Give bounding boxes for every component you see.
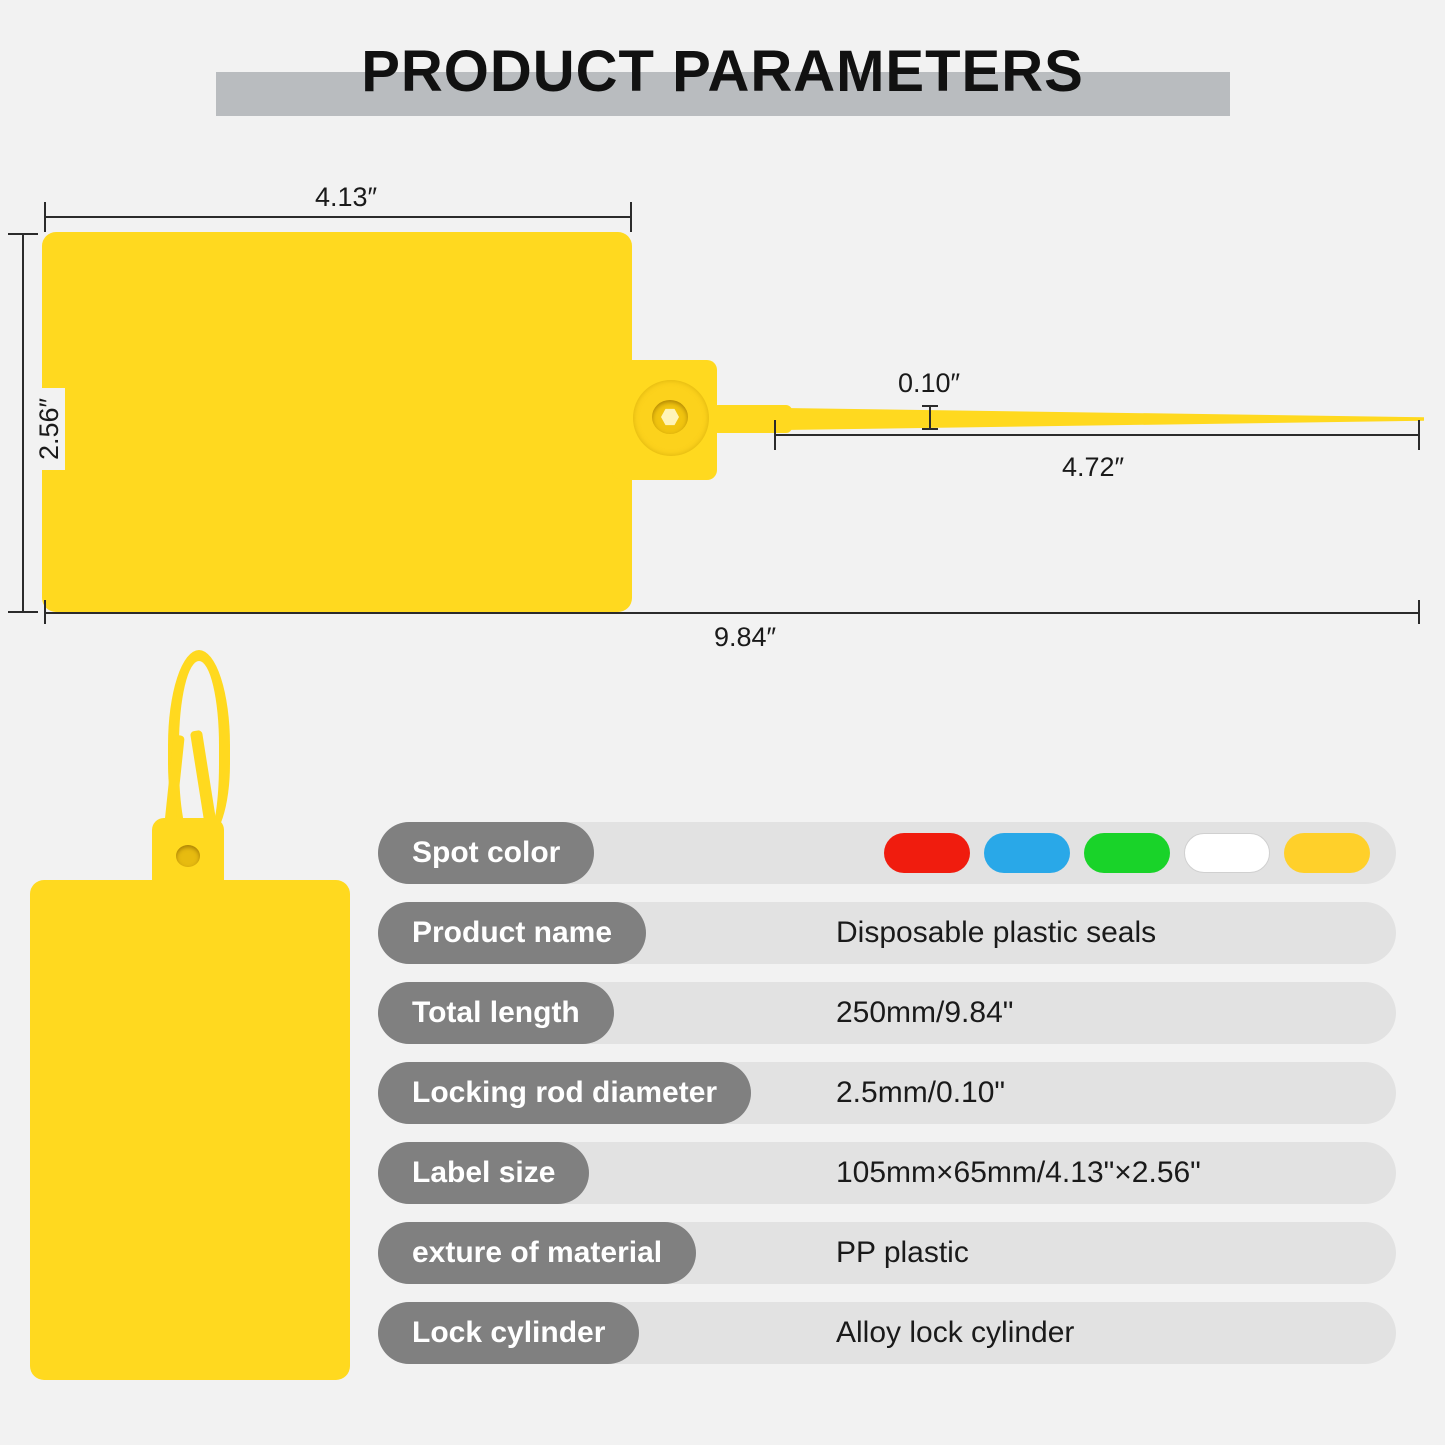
swatch-blue[interactable] xyxy=(984,833,1070,873)
table-row: Locking rod diameter 2.5mm/0.10" xyxy=(378,1062,1396,1124)
seal-strap-base xyxy=(712,405,792,433)
spec-key-label-size: Label size xyxy=(378,1142,589,1204)
spec-value-lock-cylinder: Alloy lock cylinder xyxy=(836,1302,1074,1364)
seal-label-plate xyxy=(42,232,632,612)
seal-strap-taper xyxy=(784,408,1424,430)
spec-key-product-name: Product name xyxy=(378,902,646,964)
dim-width-line xyxy=(44,216,632,218)
spec-key-spot-color: Spot color xyxy=(378,822,594,884)
spec-value-total-length: 250mm/9.84" xyxy=(836,982,1013,1044)
dim-height-label: 2.56″ xyxy=(34,388,65,470)
specification-table: Spot color Product name Disposable plast… xyxy=(378,822,1396,1382)
table-row: Total length 250mm/9.84" xyxy=(378,982,1396,1044)
dim-rod-diameter-label: 0.10″ xyxy=(898,368,960,399)
dim-rod-line xyxy=(929,405,931,429)
swatch-green[interactable] xyxy=(1084,833,1170,873)
swatch-red[interactable] xyxy=(884,833,970,873)
table-row: Label size 105mm×65mm/4.13"×2.56" xyxy=(378,1142,1396,1204)
table-row: Lock cylinder Alloy lock cylinder xyxy=(378,1302,1396,1364)
dim-strap-label: 4.72″ xyxy=(1062,452,1124,483)
spec-key-texture-of-material: exture of material xyxy=(378,1222,696,1284)
spec-key-lock-cylinder: Lock cylinder xyxy=(378,1302,639,1364)
swatch-yellow[interactable] xyxy=(1284,833,1370,873)
swatch-white[interactable] xyxy=(1184,833,1270,873)
table-row: Spot color xyxy=(378,822,1396,884)
spec-key-locking-rod-diameter: Locking rod diameter xyxy=(378,1062,751,1124)
dim-total-line xyxy=(44,612,1420,614)
product-dimension-diagram: 4.13″ 2.56″ 0.10″ 4.72″ 9.84″ xyxy=(0,0,1445,660)
table-row: exture of material PP plastic xyxy=(378,1222,1396,1284)
dim-height-line xyxy=(22,233,24,613)
spec-value-label-size: 105mm×65mm/4.13"×2.56" xyxy=(836,1142,1201,1204)
spec-value-product-name: Disposable plastic seals xyxy=(836,902,1156,964)
seal-lock-hole-2 xyxy=(176,845,200,867)
dim-total-label: 9.84″ xyxy=(700,622,790,653)
spec-value-texture-of-material: PP plastic xyxy=(836,1222,969,1284)
dim-width-label: 4.13″ xyxy=(303,182,389,213)
seal-label-plate-2 xyxy=(30,880,350,1380)
spec-value-locking-rod-diameter: 2.5mm/0.10" xyxy=(836,1062,1005,1124)
spot-color-swatches xyxy=(884,833,1370,873)
spec-key-total-length: Total length xyxy=(378,982,614,1044)
table-row: Product name Disposable plastic seals xyxy=(378,902,1396,964)
dim-strap-line xyxy=(774,434,1420,436)
